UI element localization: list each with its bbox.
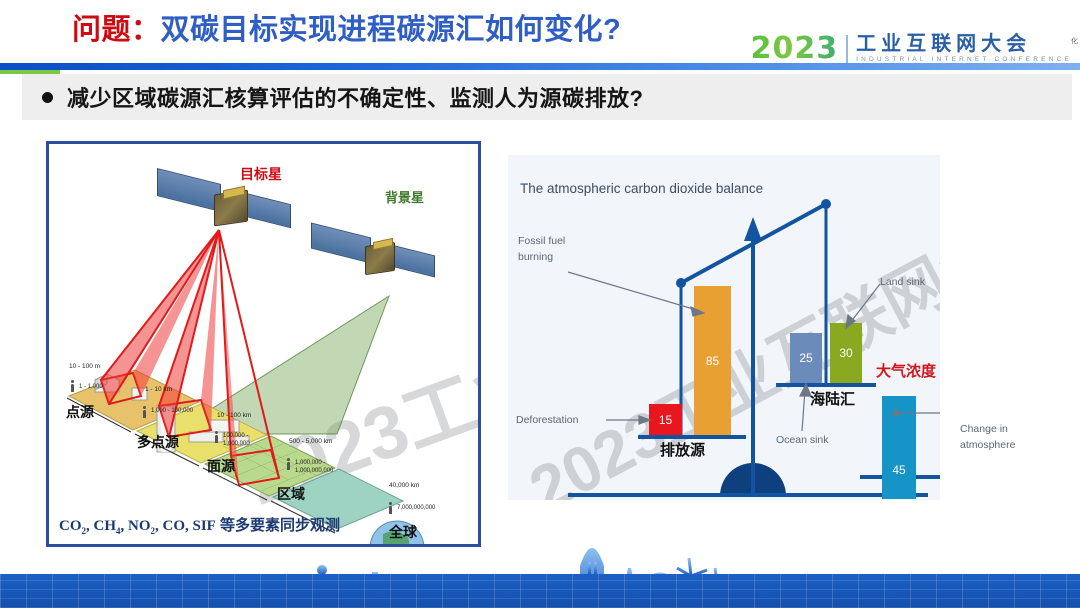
scale-label-2: 面源 xyxy=(207,456,235,476)
scale-label-0: 点源 xyxy=(66,402,94,422)
scale-label-1: 多点源 xyxy=(137,432,179,452)
label-fossil-fuel-line1: Fossil fuel xyxy=(518,235,565,247)
logo-title-cn: 工业互联网大会 xyxy=(856,34,1072,55)
person-icon-2 xyxy=(215,435,218,443)
solar-panel-left-icon-2 xyxy=(311,223,371,264)
bar-value-fossil-fuel: 85 xyxy=(706,354,719,368)
label-sinks-cn: 海陆汇 xyxy=(810,388,855,409)
header-divider-bar xyxy=(0,63,1080,70)
scale-distance-3: 500 - 5,000 km xyxy=(289,438,332,445)
bar-value-change-in-atmosphere: 45 xyxy=(892,463,905,477)
label-change-outer-line2: atmosphere xyxy=(960,439,1015,451)
scale-population-4: 7,000,000,000 xyxy=(397,505,435,513)
scale-distance-1: 1 - 10 km xyxy=(145,386,172,393)
person-icon-3 xyxy=(287,462,290,470)
conference-logo: 2023 工业互联网大会 INDUSTRIAL INTERNET CONFERE… xyxy=(751,34,1072,65)
scale-label-3: 区域 xyxy=(277,484,305,504)
label-ocean-sink: Ocean sink xyxy=(776,433,829,449)
solar-panel-right-icon xyxy=(241,192,291,228)
bar-value-ocean-sink: 25 xyxy=(799,351,812,365)
footer-grid-pattern xyxy=(0,574,1080,608)
bullet-band: 减少区域碳源汇核算评估的不确定性、监测人为源碳排放? xyxy=(22,74,1072,120)
label-background-satellite: 背景星 xyxy=(385,187,424,206)
label-land-sink: Land sink xyxy=(880,275,925,291)
person-icon-4 xyxy=(389,506,392,514)
left-figure-panel: 2023工业 xyxy=(46,141,481,547)
scale-population-0: 1 - 1,000 xyxy=(79,384,103,392)
footer-decoration xyxy=(0,536,1080,608)
center-arrow-head xyxy=(744,217,762,241)
page-title-prefix: 问题： xyxy=(72,14,161,46)
scale-population-3: 1,000,000 - 1,000,000,000 xyxy=(295,460,353,475)
slide-root: 问题：双碳目标实现进程碳源汇如何变化? 2023 工业互联网大会 INDUSTR… xyxy=(0,0,1080,608)
bar-fossil-fuel: 85 xyxy=(694,286,731,435)
right-figure-panel: 2023工业互联网大会 The atmospheric carbon dioxi… xyxy=(508,155,940,500)
scale-distance-0: 10 - 100 m xyxy=(69,363,100,370)
bar-deforestation: 15 xyxy=(649,404,682,435)
label-sources-cn: 排放源 xyxy=(660,439,705,460)
scale-distance-4: 40,000 km xyxy=(389,482,419,489)
person-icon-1 xyxy=(143,410,146,418)
label-fossil-fuel: Fossil fuel burning xyxy=(518,234,565,266)
satellite-observation-diagram: 2023工业 xyxy=(49,144,478,544)
caption-formula: CO2, CH4, NO2, CO, SIF xyxy=(59,518,216,534)
scale-population-1: 1,000 - 100,000 xyxy=(151,408,195,416)
solar-panel-right-icon-2 xyxy=(391,245,435,278)
bullet-dot-icon xyxy=(42,92,53,103)
bar-value-deforestation: 15 xyxy=(659,413,672,427)
logo-divider xyxy=(846,35,848,65)
label-change-outer-line1: Change in xyxy=(960,423,1008,435)
background-satellite xyxy=(311,226,433,284)
page-title-main: 双碳目标实现进程碳源汇如何变化? xyxy=(161,14,622,46)
logo-text: 工业互联网大会 INDUSTRIAL INTERNET CONFERENCE xyxy=(856,34,1072,64)
label-target-satellite: 目标星 xyxy=(240,164,282,184)
label-concentration-cn: 大气浓度 xyxy=(876,360,936,381)
person-icon-0 xyxy=(71,384,74,392)
solar-panel-left-icon xyxy=(157,168,221,212)
page-title: 问题：双碳目标实现进程碳源汇如何变化? xyxy=(72,6,621,48)
bullet-text: 减少区域碳源汇核算评估的不确定性、监测人为源碳排放? xyxy=(67,81,643,113)
label-deforestation: Deforestation xyxy=(516,413,578,429)
bar-value-land-sink: 30 xyxy=(839,346,852,360)
bar-change-in-atmosphere: 45 xyxy=(882,396,916,499)
logo-tail-glyph: 化 xyxy=(1071,36,1078,46)
label-fossil-fuel-line2: burning xyxy=(518,251,553,263)
left-panel-caption: CO2, CH4, NO2, CO, SIF 等多要素同步观测 xyxy=(59,514,340,536)
caption-cn: 等多要素同步观测 xyxy=(216,517,340,534)
scale-distance-2: 10 - 100 km xyxy=(217,412,251,419)
scale-population-2: 100,000 - 1,000,000 xyxy=(223,433,275,448)
logo-year: 2023 xyxy=(751,34,839,64)
bar-ocean-sink: 25 xyxy=(790,333,822,383)
label-change-in-atmosphere-outer: Change in atmosphere xyxy=(960,422,1015,454)
bar-land-sink: 30 xyxy=(830,323,862,383)
